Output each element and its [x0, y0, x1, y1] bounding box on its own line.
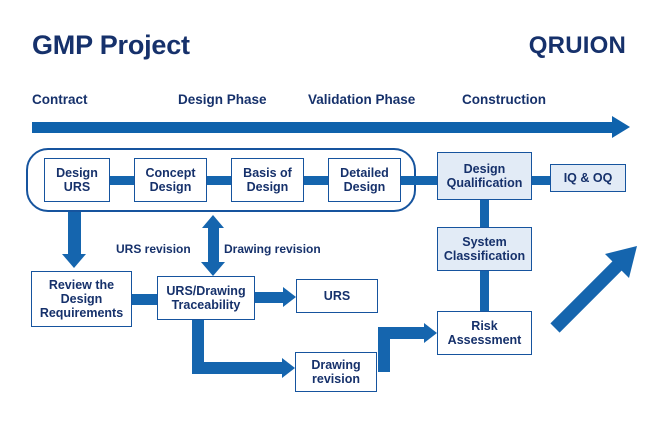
- connector-review-to-traceability: [132, 294, 157, 305]
- down-arrow-icon-revision: [201, 262, 225, 276]
- connector-dq-to-iqoq: [532, 176, 550, 185]
- box-system-classification-line1: System: [444, 235, 525, 249]
- connector-to-drawing-revision: [192, 362, 282, 374]
- phase-label-validation-phase: Validation Phase: [308, 92, 415, 107]
- box-iq-oq-label: IQ & OQ: [564, 171, 613, 185]
- box-design-urs-line2: URS: [56, 180, 98, 194]
- box-detailed-design-line1: Detailed: [340, 166, 389, 180]
- box-review-design-requirements[interactable]: Review the Design Requirements: [31, 271, 132, 327]
- box-iq-oq[interactable]: IQ & OQ: [550, 164, 626, 192]
- box-design-qualification-line1: Design: [447, 162, 523, 176]
- box-design-qualification[interactable]: Design Qualification: [437, 152, 532, 200]
- box-drawing-revision-line1: Drawing: [311, 358, 360, 372]
- connector-group-to-review: [68, 212, 81, 256]
- box-design-urs[interactable]: Design URS: [44, 158, 110, 202]
- phase-label-design-phase: Design Phase: [178, 92, 267, 107]
- connector-dq-to-system-classification: [480, 198, 489, 228]
- box-review-line1: Review the: [40, 278, 123, 292]
- right-arrow-icon-drawing-revision: [282, 358, 295, 378]
- box-traceability-line1: URS/Drawing: [166, 284, 245, 298]
- box-concept-design-line2: Design: [146, 180, 196, 194]
- page-title: GMP Project: [32, 30, 190, 61]
- box-review-line2: Design: [40, 292, 123, 306]
- box-urs[interactable]: URS: [296, 279, 378, 313]
- timeline-bar: [32, 122, 616, 133]
- box-detailed-design-line2: Design: [340, 180, 389, 194]
- brand-logo: QRUION: [529, 32, 626, 60]
- box-concept-design[interactable]: Concept Design: [134, 158, 207, 202]
- box-urs-label: URS: [324, 289, 350, 303]
- box-risk-assessment-line1: Risk: [448, 319, 522, 333]
- connector-detailed-to-dq: [401, 176, 441, 185]
- box-review-line3: Requirements: [40, 306, 123, 320]
- box-drawing-revision-line2: revision: [311, 372, 360, 386]
- diagonal-up-right-arrow-icon: [545, 238, 645, 338]
- box-basis-of-design[interactable]: Basis of Design: [231, 158, 304, 202]
- right-arrow-icon-risk-assessment: [424, 323, 437, 343]
- box-system-classification[interactable]: System Classification: [437, 227, 532, 271]
- connector-concept-to-basis: [207, 176, 231, 185]
- box-design-urs-line1: Design: [56, 166, 98, 180]
- box-basis-of-design-line1: Basis of: [243, 166, 292, 180]
- phase-label-contract: Contract: [32, 92, 88, 107]
- label-urs-revision: URS revision: [116, 242, 191, 256]
- box-risk-assessment-line2: Assessment: [448, 333, 522, 347]
- box-basis-of-design-line2: Design: [243, 180, 292, 194]
- box-risk-assessment[interactable]: Risk Assessment: [437, 311, 532, 355]
- diagram-canvas: GMP Project QRUION Contract Design Phase…: [0, 0, 652, 435]
- connector-design-urs-to-concept: [110, 176, 134, 185]
- phase-label-construction: Construction: [462, 92, 546, 107]
- box-concept-design-line1: Concept: [146, 166, 196, 180]
- box-system-classification-line2: Classification: [444, 249, 525, 263]
- box-urs-drawing-traceability[interactable]: URS/Drawing Traceability: [157, 276, 255, 320]
- box-design-qualification-line2: Qualification: [447, 176, 523, 190]
- up-arrow-icon-revision: [202, 215, 224, 228]
- connector-to-risk-assessment: [378, 327, 426, 339]
- connector-traceability-to-urs: [255, 292, 283, 303]
- label-drawing-revision: Drawing revision: [224, 242, 321, 256]
- connector-system-classification-to-risk: [480, 270, 489, 312]
- box-detailed-design[interactable]: Detailed Design: [328, 158, 401, 202]
- right-arrow-icon-urs: [283, 287, 296, 307]
- connector-basis-to-detailed: [304, 176, 328, 185]
- box-drawing-revision[interactable]: Drawing revision: [295, 352, 377, 392]
- box-traceability-line2: Traceability: [166, 298, 245, 312]
- down-arrow-icon-review: [62, 254, 86, 268]
- timeline-right-arrow-icon: [612, 116, 630, 138]
